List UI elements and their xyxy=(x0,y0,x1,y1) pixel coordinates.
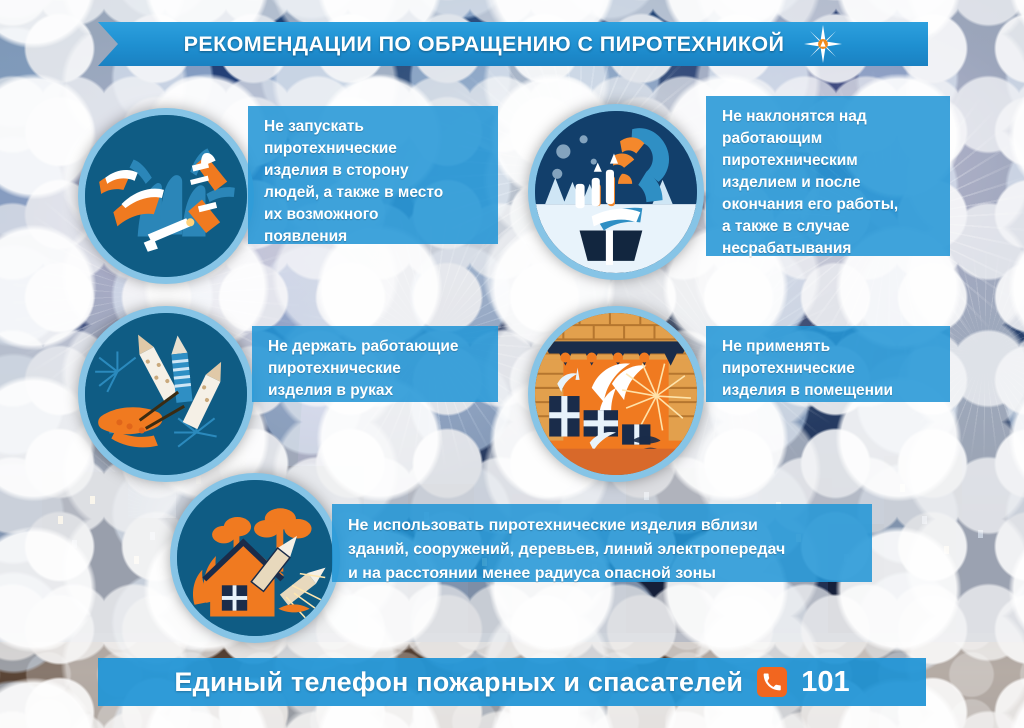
emergency-phone-number: 101 xyxy=(801,666,849,699)
emergency-phone-footer: Единый телефон пожарных и спасателей 101 xyxy=(98,658,926,706)
rule-5-text: Не использовать пиротехнические изделия … xyxy=(332,504,872,582)
indoor-fireplace-sparkler-icon xyxy=(535,313,697,475)
rule-2-illustration-circle xyxy=(528,104,704,280)
infographic-poster: РЕКОМЕНДАЦИИ ПО ОБРАЩЕНИЮ С ПИРОТЕХНИКОЙ xyxy=(0,0,1024,728)
rocket-aimed-at-crowd-icon xyxy=(85,115,247,277)
rule-3-text: Не держать работающие пиротехнические из… xyxy=(252,326,498,402)
person-leaning-over-firework-icon xyxy=(535,111,697,273)
rule-5-illustration-circle xyxy=(170,473,340,643)
emercom-star-emblem-icon xyxy=(804,25,842,63)
rule-4-illustration-circle xyxy=(528,306,704,482)
rule-1-illustration-circle xyxy=(78,108,254,284)
rule-1-text: Не запускать пиротехнические изделия в с… xyxy=(248,106,498,244)
header-banner: РЕКОМЕНДАЦИИ ПО ОБРАЩЕНИЮ С ПИРОТЕХНИКОЙ xyxy=(98,22,928,66)
rule-4-text: Не применять пиротехнические изделия в п… xyxy=(706,326,950,402)
burning-house-rockets-icon xyxy=(177,480,333,636)
phone-handset-icon xyxy=(757,667,787,697)
hand-holding-rockets-icon xyxy=(85,313,247,475)
rule-3-illustration-circle xyxy=(78,306,254,482)
page-title: РЕКОМЕНДАЦИИ ПО ОБРАЩЕНИЮ С ПИРОТЕХНИКОЙ xyxy=(184,32,785,57)
rule-2-text: Не наклонятся над работающим пиротехниче… xyxy=(706,96,950,256)
emergency-phone-label: Единый телефон пожарных и спасателей xyxy=(174,667,743,698)
